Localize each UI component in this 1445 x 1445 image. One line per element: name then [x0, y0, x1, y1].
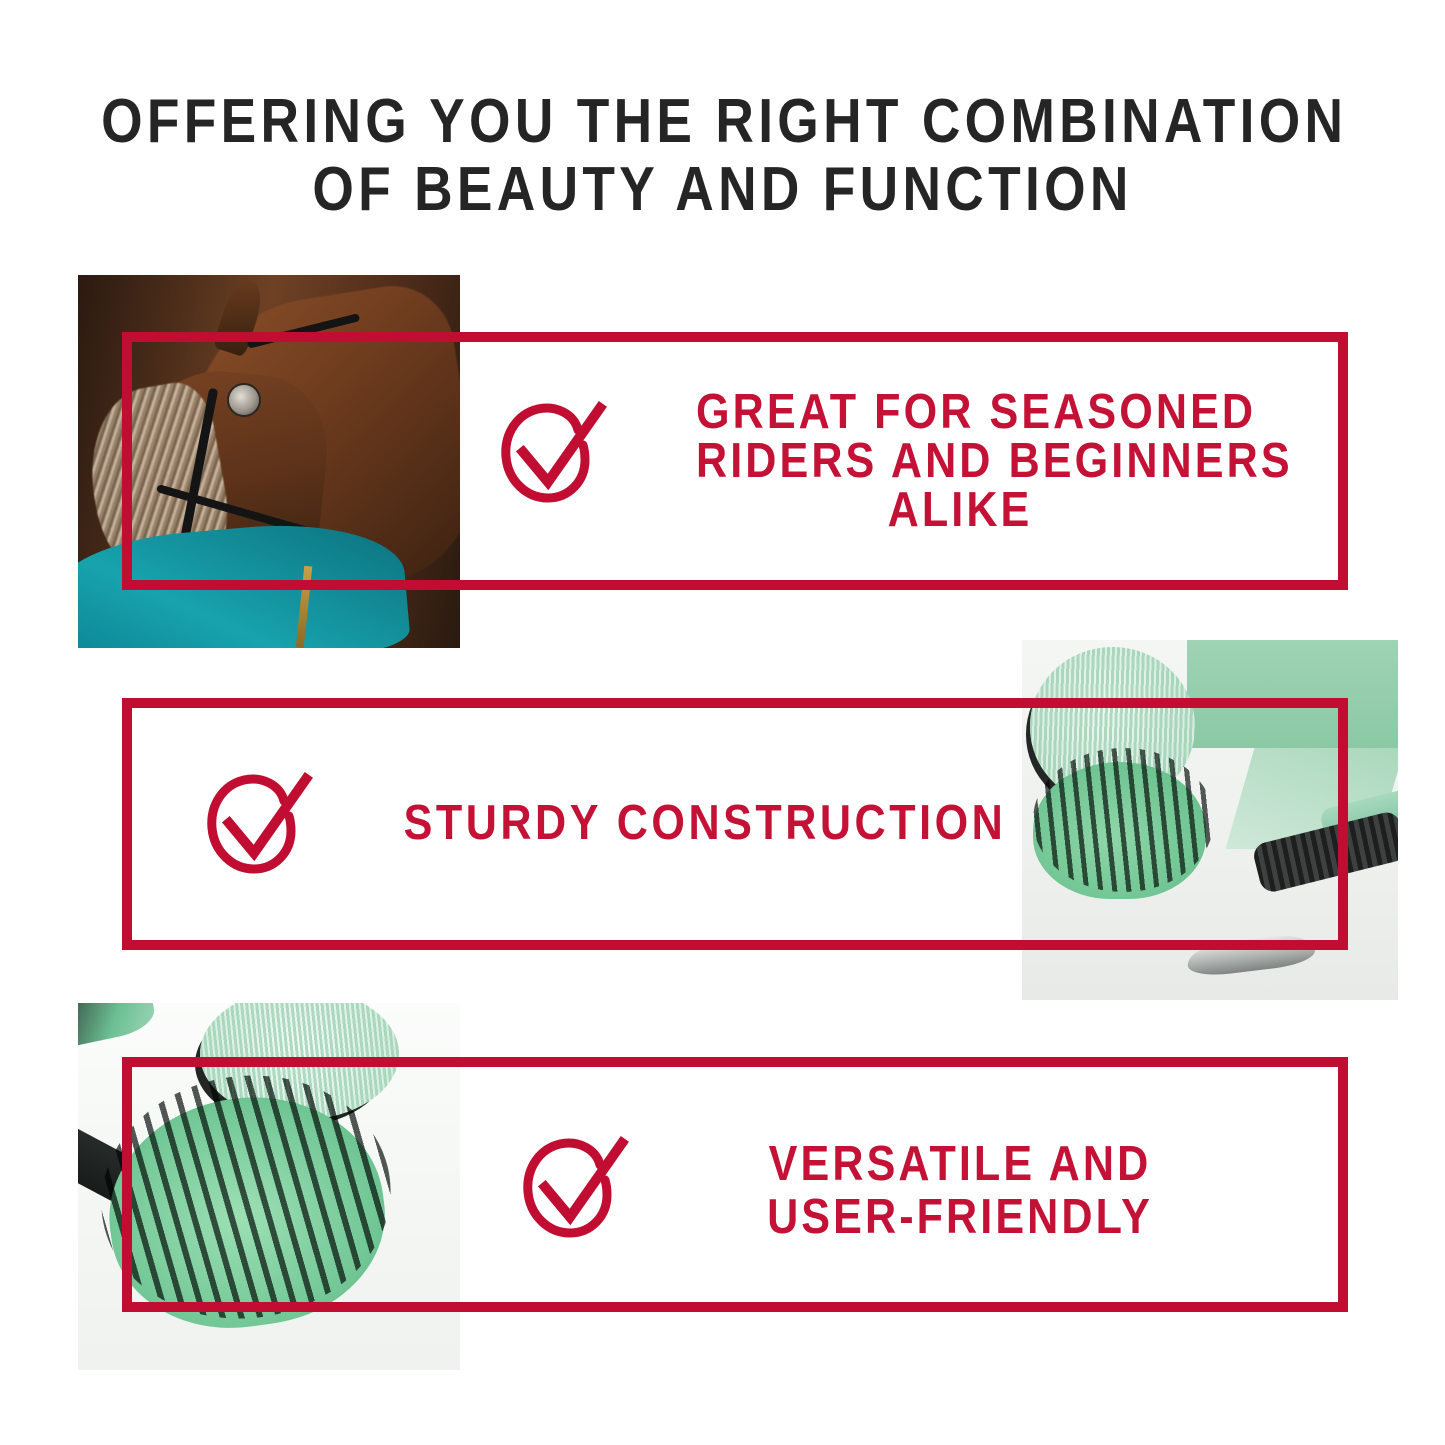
headline-line-2: of beauty and function — [101, 156, 1344, 224]
check-circle-icon — [196, 766, 316, 884]
feature-label-1: Great for seasoned riders and beginners … — [660, 388, 1260, 535]
feature-1-line-1: Great for seasoned — [696, 388, 1224, 437]
infographic-canvas: Offering you the right combination of be… — [0, 0, 1445, 1445]
page-title: Offering you the right combination of be… — [0, 88, 1445, 224]
feature-label-2: Sturdy construction — [370, 797, 930, 849]
feature-1-line-2: riders and beginners — [696, 437, 1224, 486]
headline-line-1: Offering you the right combination — [101, 88, 1344, 156]
feature-3-line-2: user-friendly — [722, 1191, 1197, 1244]
feature-1-line-3: alike — [696, 486, 1224, 535]
secondary-brush-edge — [78, 1003, 159, 1049]
feature-label-3: Versatile and user-friendly — [690, 1138, 1230, 1244]
check-circle-icon — [490, 395, 610, 513]
check-circle-icon — [512, 1130, 632, 1248]
feature-2-line-1: Sturdy construction — [404, 797, 897, 849]
feature-3-line-1: Versatile and — [722, 1138, 1197, 1191]
